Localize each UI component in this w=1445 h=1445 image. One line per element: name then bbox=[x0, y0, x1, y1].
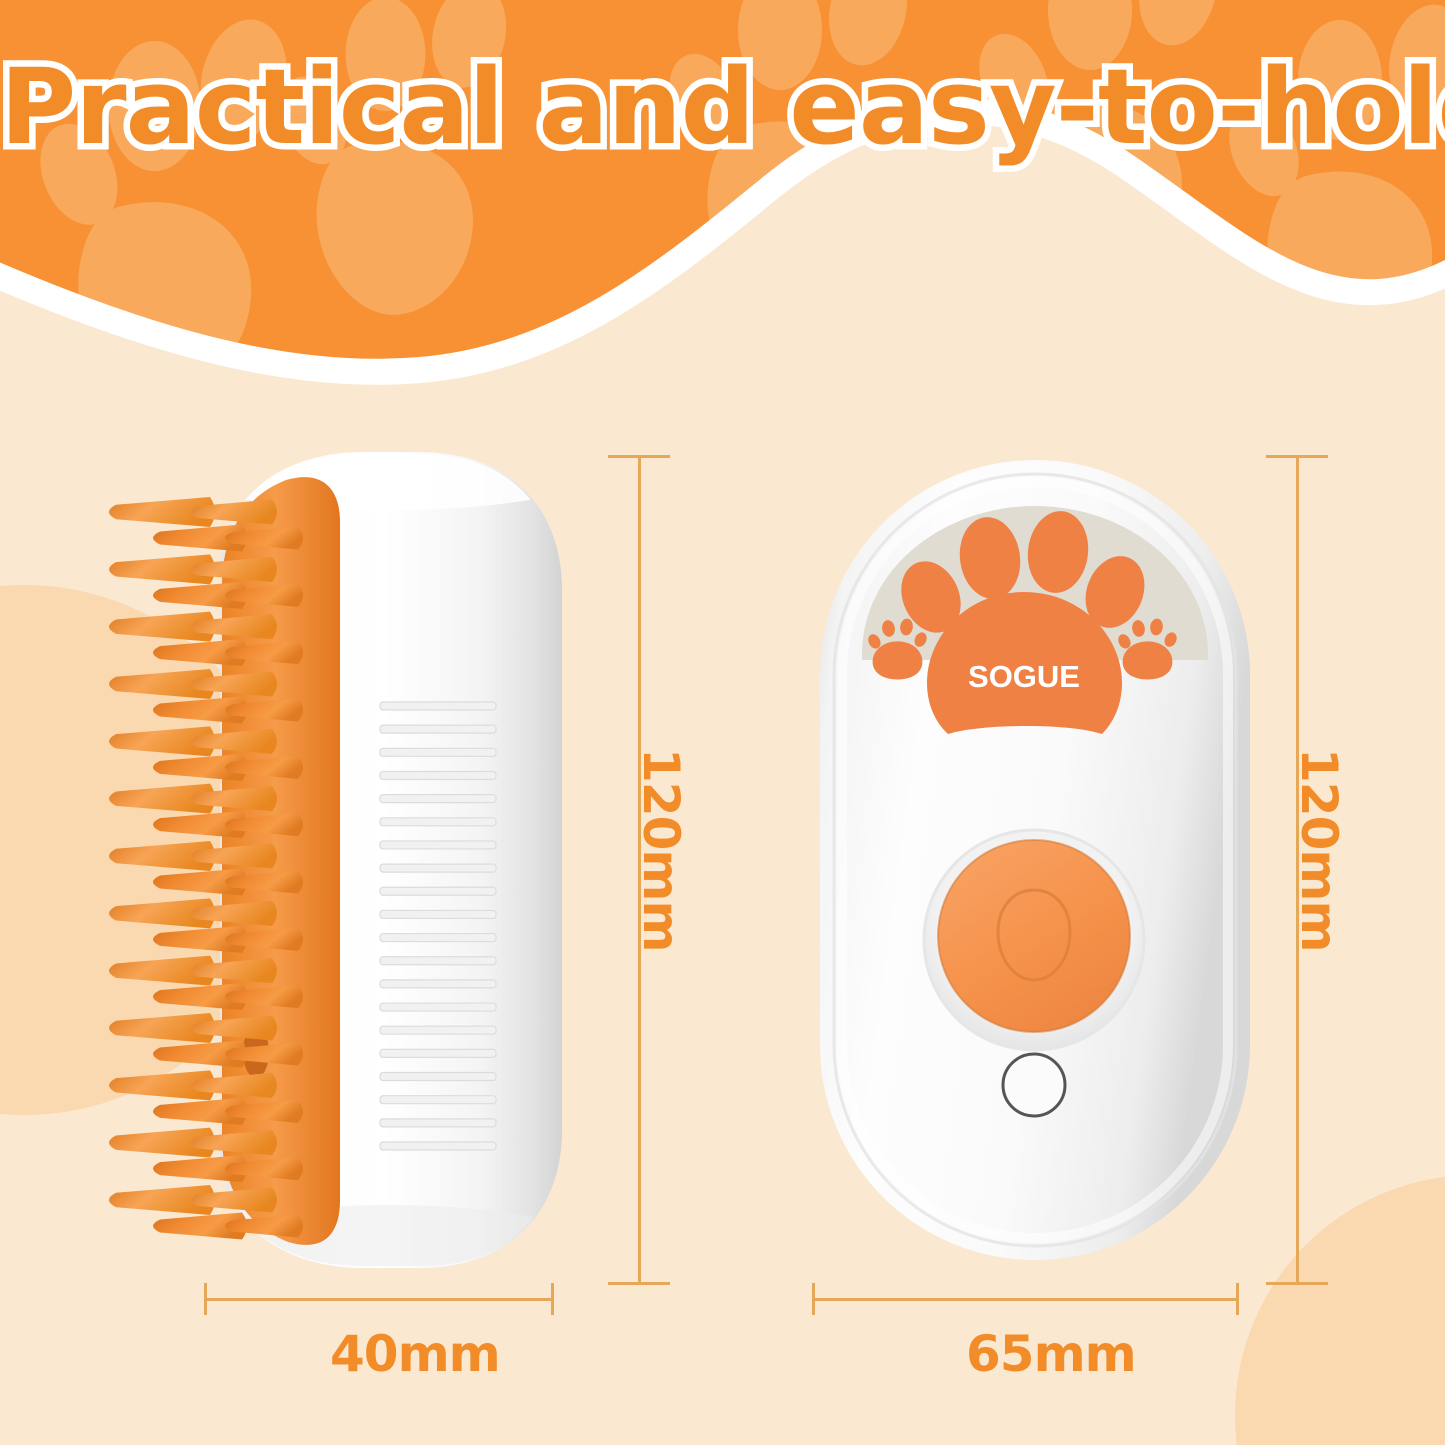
dimension-label-left-height: 120mm bbox=[632, 748, 690, 952]
infographic-canvas: Practical and easy-to-hold size bbox=[0, 0, 1445, 1445]
dimension-label-right-height: 120mm bbox=[1290, 748, 1348, 952]
dimension-cap-left-width-start bbox=[204, 1283, 207, 1315]
vent-slat bbox=[380, 910, 496, 918]
vent-slat bbox=[380, 1026, 496, 1034]
dimension-cap-left-height-top bbox=[608, 455, 670, 458]
dimension-cap-right-height-top bbox=[1266, 455, 1328, 458]
vent-slat bbox=[380, 1049, 496, 1057]
page-title: Practical and easy-to-hold size bbox=[0, 46, 1445, 168]
dimension-cap-left-height-bottom bbox=[608, 1282, 670, 1285]
vent-slat bbox=[380, 725, 496, 733]
vent-slat bbox=[380, 818, 496, 826]
header-banner: Practical and easy-to-hold size bbox=[0, 0, 1445, 400]
dimension-line-right-width bbox=[812, 1298, 1239, 1301]
vent-slat bbox=[380, 795, 496, 803]
dimension-label-left-width: 40mm bbox=[330, 1325, 500, 1383]
vent-slat bbox=[380, 1142, 496, 1150]
dimension-cap-right-height-bottom bbox=[1266, 1282, 1328, 1285]
vent-slat bbox=[380, 980, 496, 988]
logo-brand-text: SOGUE bbox=[968, 659, 1080, 694]
dimension-cap-right-width-start bbox=[812, 1283, 815, 1315]
vent-slat bbox=[380, 1119, 496, 1127]
vent-slat bbox=[380, 864, 496, 872]
vent-slat bbox=[380, 934, 496, 942]
vent-slat bbox=[380, 748, 496, 756]
vent-slat bbox=[380, 957, 496, 965]
vent-slat bbox=[380, 887, 496, 895]
vent-slat bbox=[380, 702, 496, 710]
dimension-label-right-width: 65mm bbox=[966, 1325, 1136, 1383]
device-product-image: SOGUE bbox=[800, 440, 1270, 1280]
vent-slat bbox=[380, 1073, 496, 1081]
brush-product-image bbox=[90, 440, 610, 1280]
power-button[interactable] bbox=[924, 830, 1144, 1050]
vent-slat bbox=[380, 771, 496, 779]
vent-slat bbox=[380, 1096, 496, 1104]
dimension-cap-right-width-end bbox=[1236, 1283, 1239, 1315]
indicator-light[interactable] bbox=[1003, 1054, 1065, 1116]
dimension-line-left-width bbox=[204, 1298, 554, 1301]
vent-slat bbox=[380, 841, 496, 849]
vent-slat bbox=[380, 1003, 496, 1011]
dimension-cap-left-width-end bbox=[551, 1283, 554, 1315]
